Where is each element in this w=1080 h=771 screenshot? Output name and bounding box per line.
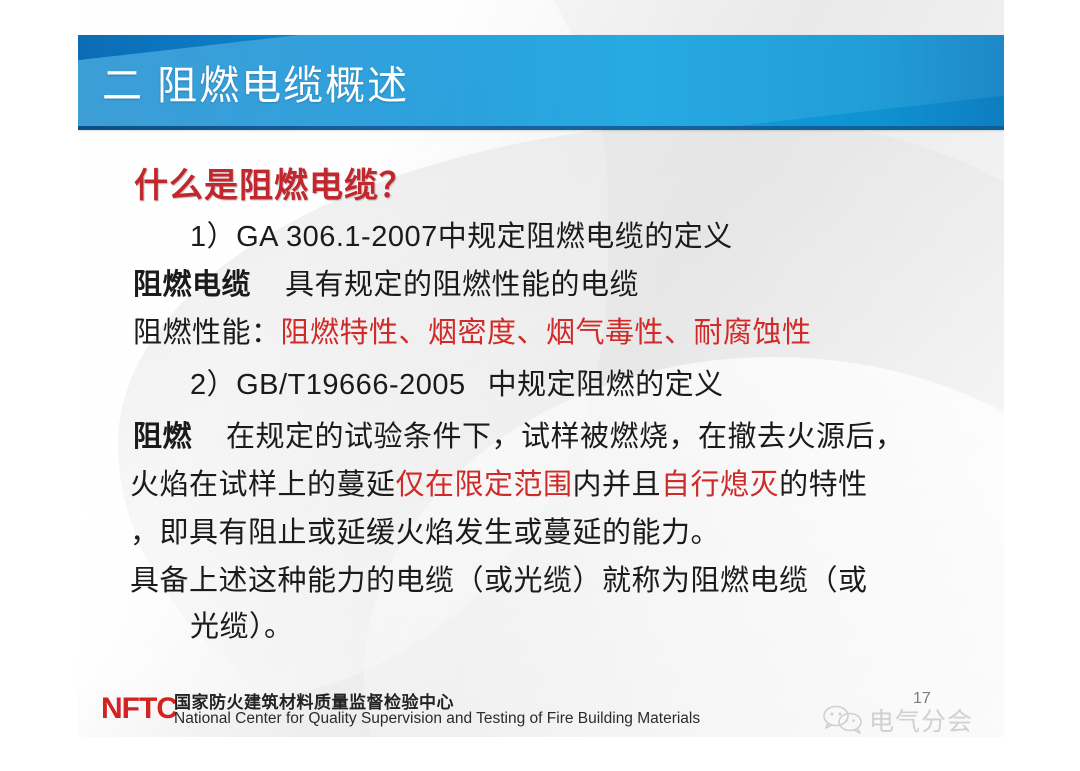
definition-line-2: 火焰在试样上的蔓延仅在限定范围内并且自行熄灭的特性 xyxy=(130,468,868,502)
definition-highlight-limited-range: 仅在限定范围 xyxy=(396,469,573,501)
closing-line-2: 光缆）。 xyxy=(190,610,294,644)
slide-body-text: 什么是阻燃电缆？ 1）GA 306.1-2007中规定阻燃电缆的定义 阻燃电缆具… xyxy=(78,128,1004,688)
page-title: 二 阻燃电缆概述 xyxy=(102,53,409,111)
item-1-text: 中规定阻燃电缆的定义 xyxy=(438,221,733,253)
closing-line-1: 具备上述这种能力的电缆（或光缆）就称为阻燃电缆（或 xyxy=(130,564,868,598)
term-cable: 阻燃电缆 xyxy=(133,269,251,301)
definition-highlight-self-extinguish: 自行熄灭 xyxy=(661,469,779,501)
definition-item-2: 2）GB/T19666-2005中规定阻燃的定义 xyxy=(190,368,724,402)
definition-item-1: 1）GA 306.1-2007中规定阻燃电缆的定义 xyxy=(190,220,733,254)
performance-row: 阻燃性能：阻燃特性、烟密度、烟气毒性、耐腐蚀性 xyxy=(133,316,812,350)
term-cable-definition: 具有规定的阻燃性能的电缆 xyxy=(285,269,639,301)
header-underline xyxy=(78,126,1004,130)
slide: 二 阻燃电缆概述 什么是阻燃电缆？ 1）GA 306.1-2007中规定阻燃电缆… xyxy=(0,0,1080,771)
organization-name-english: National Center for Quality Supervision … xyxy=(174,710,700,728)
wechat-icon xyxy=(823,705,865,735)
definition-line-2-part-b: 内并且 xyxy=(573,469,662,501)
wechat-watermark: 电气分会 xyxy=(823,700,1003,740)
nftc-logo: NFTC xyxy=(101,692,177,726)
definition-line-3: ，即具有阻止或延缓火焰发生或蔓延的能力。 xyxy=(130,516,720,550)
performance-values: 阻燃特性、烟密度、烟气毒性、耐腐蚀性 xyxy=(281,317,812,349)
term-flame-retardant-definition-line-1: 在规定的试验条件下，试样被燃烧，在撤去火源后， xyxy=(226,421,905,453)
term-cable-row: 阻燃电缆具有规定的阻燃性能的电缆 xyxy=(133,268,639,302)
slide-footer: NFTC 国家防火建筑材料质量监督检验中心 National Center fo… xyxy=(78,684,1004,737)
performance-label: 阻燃性能： xyxy=(133,317,281,349)
term-flame-retardant-row: 阻燃在规定的试验条件下，试样被燃烧，在撤去火源后， xyxy=(133,420,905,454)
bottom-margin xyxy=(0,737,1080,771)
slide-header-banner: 二 阻燃电缆概述 xyxy=(78,35,1004,128)
left-margin xyxy=(0,0,78,771)
definition-line-2-part-a: 火焰在试样上的蔓延 xyxy=(130,469,396,501)
item-1-standard: 1）GA 306.1-2007 xyxy=(190,221,438,253)
term-flame-retardant: 阻燃 xyxy=(133,421,192,453)
item-2-standard: 2）GB/T19666-2005 xyxy=(190,369,466,401)
definition-line-2-part-c: 的特性 xyxy=(779,469,868,501)
watermark-label: 电气分会 xyxy=(869,702,973,738)
right-margin xyxy=(1004,0,1080,771)
item-2-text: 中规定阻燃的定义 xyxy=(488,369,724,401)
section-question-heading: 什么是阻燃电缆？ xyxy=(134,158,414,207)
